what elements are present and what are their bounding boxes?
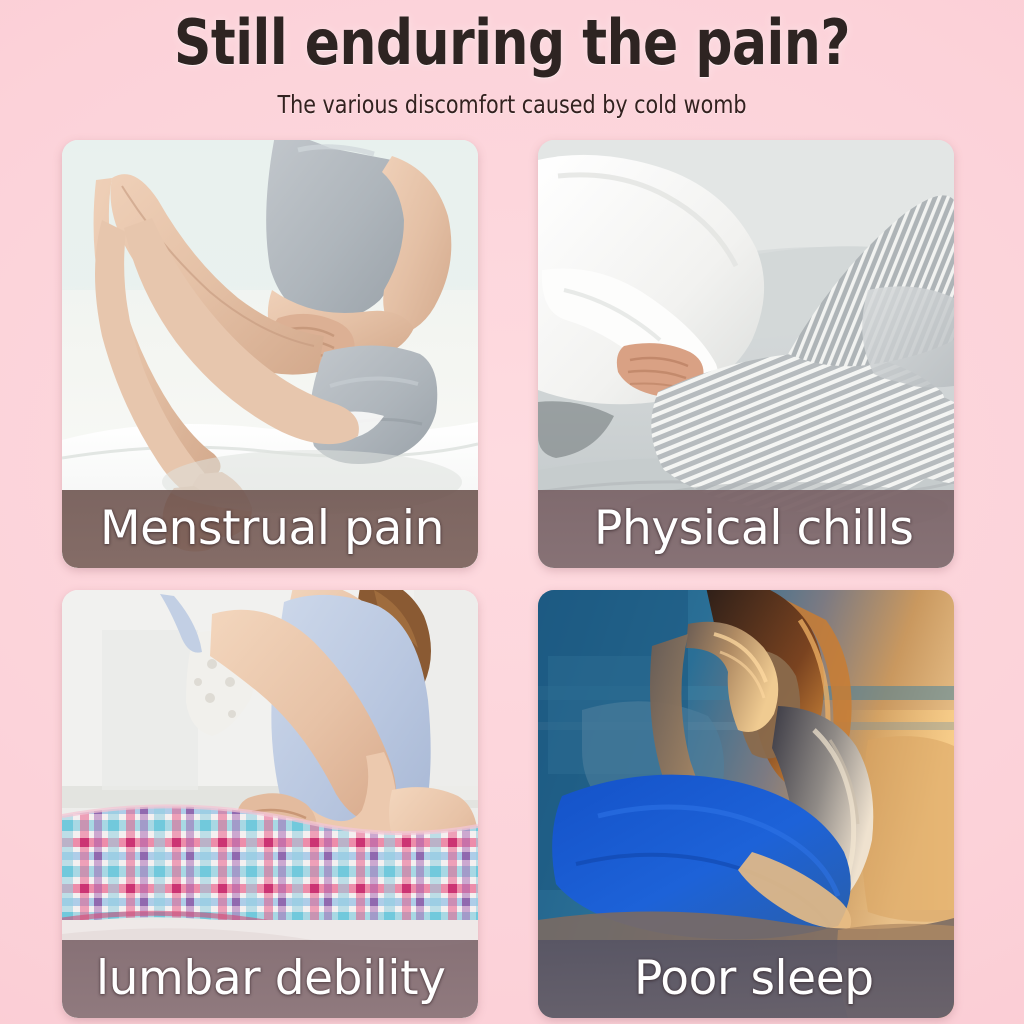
symptom-card-menstrual-pain[interactable]: Menstrual pain [62, 140, 478, 568]
poster-canvas: Still enduring the pain? The various dis… [0, 0, 1024, 1024]
caption-text: lumbar debility [96, 954, 446, 1004]
symptom-card-lumbar-debility[interactable]: lumbar debility [62, 590, 478, 1018]
symptom-grid: Menstrual pain [62, 140, 962, 1018]
card-caption-poor-sleep: Poor sleep [538, 940, 954, 1018]
card-caption-physical-chills: Physical chills [538, 490, 954, 568]
caption-text: Physical chills [572, 504, 913, 554]
card-caption-lumbar-debility: lumbar debility [62, 940, 478, 1018]
caption-text: Menstrual pain [96, 504, 444, 554]
page-title: Still enduring the pain? [36, 0, 988, 82]
card-caption-menstrual-pain: Menstrual pain [62, 490, 478, 568]
symptom-card-poor-sleep[interactable]: Poor sleep [538, 590, 954, 1018]
symptom-card-physical-chills[interactable]: Physical chills [538, 140, 954, 568]
page-subtitle: The various discomfort caused by cold wo… [41, 82, 983, 120]
poster-header: Still enduring the pain? The various dis… [0, 0, 1024, 120]
caption-text: Poor sleep [572, 954, 874, 1004]
